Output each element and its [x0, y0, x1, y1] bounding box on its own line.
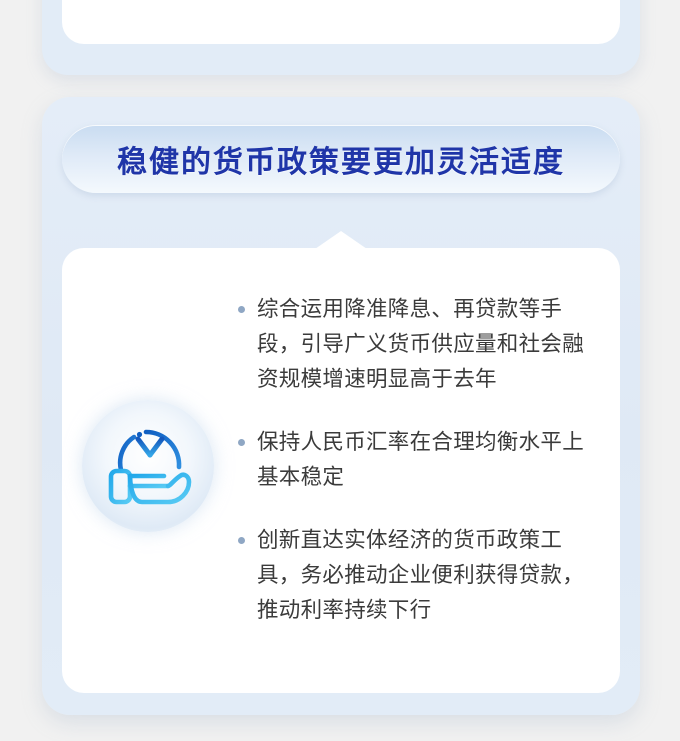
bullet-dot-icon — [238, 537, 245, 544]
card-content-panel: 综合运用降准降息、再贷款等手段，引导广义货币供应量和社会融资规模增速明显高于去年… — [62, 248, 620, 693]
list-item: 创新直达实体经济的货币政策工具，务必推动企业便利获得贷款，推动利率持续下行 — [238, 523, 600, 628]
policy-bullet-list: 综合运用降准降息、再贷款等手段，引导广义货币供应量和社会融资规模增速明显高于去年… — [238, 292, 600, 628]
bullet-text: 综合运用降准降息、再贷款等手段，引导广义货币供应量和社会融资规模增速明显高于去年 — [257, 292, 600, 397]
card-title-pill: 稳健的货币政策要更加灵活适度 — [62, 125, 620, 193]
card-title: 稳健的货币政策要更加灵活适度 — [117, 137, 565, 181]
bullet-text: 创新直达实体经济的货币政策工具，务必推动企业便利获得贷款，推动利率持续下行 — [257, 523, 600, 628]
list-item: 综合运用降准降息、再贷款等手段，引导广义货币供应量和社会融资规模增速明显高于去年 — [238, 292, 600, 397]
bullet-dot-icon — [238, 306, 245, 313]
list-item: 保持人民币汇率在合理均衡水平上基本稳定 — [238, 425, 600, 495]
hand-holding-yuan-icon — [82, 400, 214, 532]
bullet-text: 保持人民币汇率在合理均衡水平上基本稳定 — [257, 425, 600, 495]
previous-section-card — [42, 0, 640, 75]
monetary-policy-card: 稳健的货币政策要更加灵活适度 — [42, 97, 640, 715]
bullet-dot-icon — [238, 439, 245, 446]
panel-notch-arrow — [315, 231, 367, 249]
previous-section-panel — [62, 0, 620, 44]
